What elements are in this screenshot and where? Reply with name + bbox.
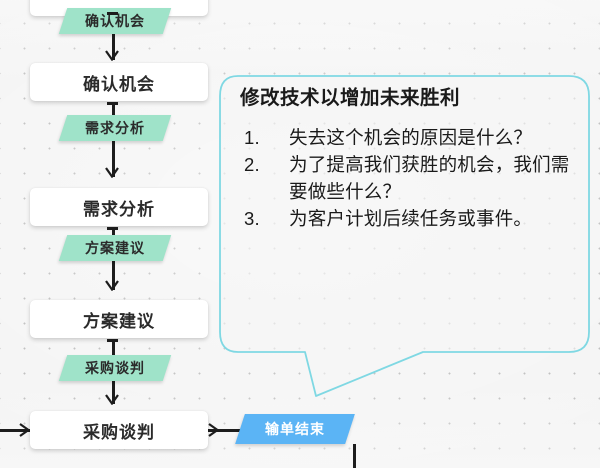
stage-lost-order-end-label: 输单结束: [265, 419, 325, 439]
stage-requirement-analysis-label: 需求分析: [85, 118, 145, 138]
node-purchase-negotiation[interactable]: 采购谈判: [30, 411, 208, 449]
arrow-head-down-4: [105, 394, 119, 405]
list-item-number: 3.: [244, 206, 280, 233]
arrow-head-down-2: [105, 167, 119, 178]
list-item-text: 为客户计划后续任务或事件。: [289, 208, 532, 229]
node-solution-proposal-label: 方案建议: [83, 307, 155, 332]
list-item-number: 1.: [244, 125, 280, 152]
list-item-text: 为了提高我们获胜的机会，我们需要做些什么？: [289, 154, 570, 202]
arrow-head-right-to-end: [208, 423, 219, 437]
node-confirm-opportunity-label: 确认机会: [83, 70, 155, 95]
node-solution-proposal[interactable]: 方案建议: [30, 300, 208, 338]
connector-tick-node2: [107, 227, 118, 230]
list-item: 3. 为客户计划后续任务或事件。: [244, 206, 580, 233]
arrow-head-right-into-node4: [19, 423, 30, 437]
connector-tick-node1: [107, 102, 118, 105]
node-confirm-opportunity[interactable]: 确认机会: [30, 63, 208, 101]
flowchart-canvas: 确认机会 确认机会 需求分析 需求分析 方案建议 方案建议 采购谈判: [0, 0, 600, 468]
node-requirement-analysis[interactable]: 需求分析: [30, 188, 208, 226]
stage-purchase-negotiation-label: 采购谈判: [85, 358, 145, 378]
arrow-head-down-3: [105, 280, 119, 291]
arrow-head-down-1: [105, 50, 119, 61]
list-item: 2. 为了提高我们获胜的机会，我们需要做些什么？: [244, 152, 580, 206]
list-item-text: 失去这个机会的原因是什么？: [289, 127, 532, 148]
callout-list: 1. 失去这个机会的原因是什么？ 2. 为了提高我们获胜的机会，我们需要做些什么…: [240, 125, 580, 232]
connector-tick-top: [107, 12, 118, 15]
stage-solution-proposal-label: 方案建议: [85, 238, 145, 258]
stage-requirement-analysis[interactable]: 需求分析: [59, 115, 171, 141]
stage-purchase-negotiation[interactable]: 采购谈判: [59, 355, 171, 381]
list-item: 1. 失去这个机会的原因是什么？: [244, 125, 580, 152]
callout-content: 修改技术以增加未来胜利 1. 失去这个机会的原因是什么？ 2. 为了提高我们获胜…: [240, 86, 580, 233]
stage-lost-order-end[interactable]: 输单结束: [235, 414, 355, 444]
node-purchase-negotiation-label: 采购谈判: [83, 418, 155, 443]
callout-title: 修改技术以增加未来胜利: [240, 86, 580, 111]
list-item-number: 2.: [244, 152, 280, 179]
connector-tick-node3: [107, 339, 118, 342]
node-requirement-analysis-label: 需求分析: [83, 195, 155, 220]
stage-solution-proposal[interactable]: 方案建议: [59, 235, 171, 261]
connector-end-downward: [353, 444, 356, 468]
